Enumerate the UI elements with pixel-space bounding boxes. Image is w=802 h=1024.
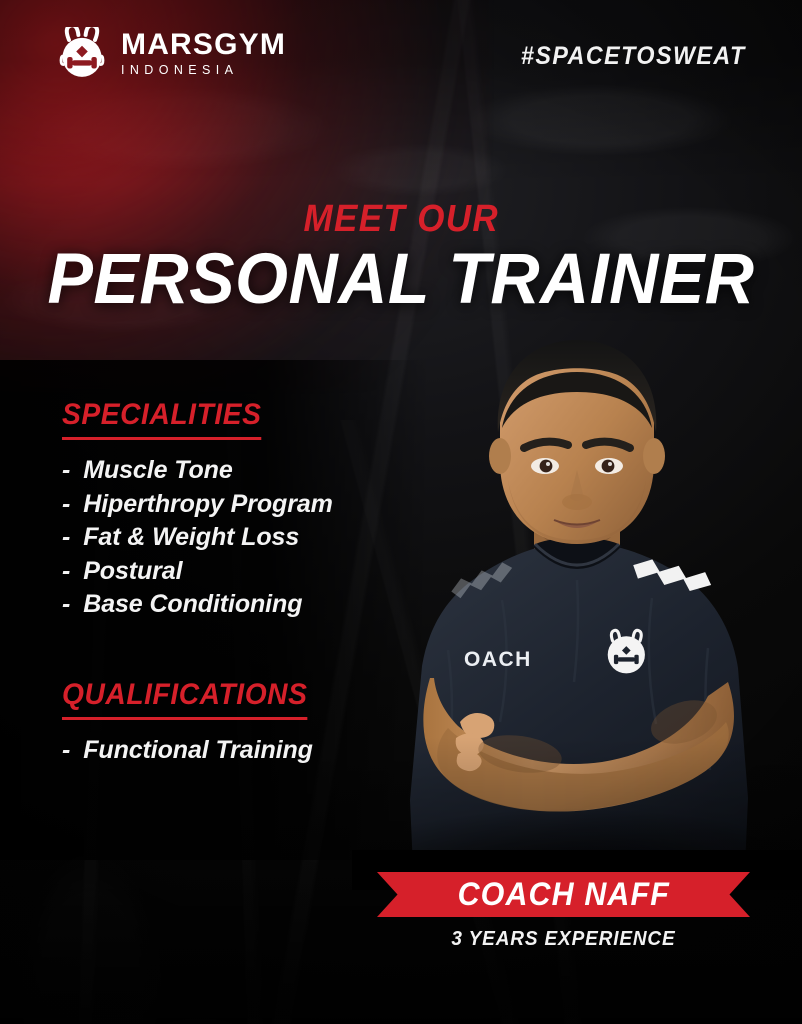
coach-name: COACH NAFF — [457, 876, 669, 913]
list-item: - Base Conditioning — [62, 588, 422, 622]
list-item-label: Base Conditioning — [83, 588, 302, 622]
list-item-label: Muscle Tone — [83, 454, 232, 488]
bullet-dash: - — [62, 588, 70, 622]
poster-canvas: OACH — [0, 0, 802, 1024]
qualifications-list: - Functional Training — [62, 734, 422, 768]
specialities-heading: SPECIALITIES — [62, 398, 262, 440]
list-item-label: Hiperthropy Program — [83, 488, 333, 522]
specialities-list: - Muscle Tone - Hiperthropy Program - Fa… — [62, 454, 422, 622]
page-title: PERSONAL TRAINER — [16, 239, 786, 320]
coach-name-banner: COACH NAFF — [377, 872, 750, 917]
list-item-label: Postural — [83, 555, 182, 589]
hashtag-slogan: #SPACETOSWEAT — [521, 42, 746, 71]
qualifications-section: QUALIFICATIONS - Functional Training — [62, 678, 422, 768]
shirt-chest-text: OACH — [464, 648, 532, 671]
marsgym-alien-dumbbell-logo-icon — [56, 27, 108, 79]
list-item-label: Fat & Weight Loss — [83, 521, 299, 555]
brand-subtitle: INDONESIA — [121, 64, 286, 77]
brand-lockup[interactable]: MARSGYM INDONESIA — [56, 27, 286, 79]
bullet-dash: - — [62, 454, 70, 488]
specialities-section: SPECIALITIES - Muscle Tone - Hiperthropy… — [62, 398, 422, 622]
list-item: - Muscle Tone — [62, 454, 422, 488]
info-column: SPECIALITIES - Muscle Tone - Hiperthropy… — [62, 398, 422, 767]
headline-block: MEET OUR PERSONAL TRAINER — [0, 198, 802, 320]
bullet-dash: - — [62, 555, 70, 589]
experience-label: 3 YEARS EXPERIENCE — [386, 928, 740, 951]
bullet-dash: - — [62, 488, 70, 522]
list-item: - Hiperthropy Program — [62, 488, 422, 522]
brand-name: MARSGYM — [121, 30, 286, 60]
list-item-label: Functional Training — [83, 734, 313, 768]
headline-eyebrow: MEET OUR — [303, 198, 499, 241]
list-item: - Postural — [62, 555, 422, 589]
bullet-dash: - — [62, 521, 70, 555]
qualifications-heading: QUALIFICATIONS — [62, 678, 308, 720]
brand-text: MARSGYM INDONESIA — [121, 30, 286, 77]
section-spacer — [62, 622, 422, 678]
list-item: - Fat & Weight Loss — [62, 521, 422, 555]
bullet-dash: - — [62, 734, 70, 768]
list-item: - Functional Training — [62, 734, 422, 768]
